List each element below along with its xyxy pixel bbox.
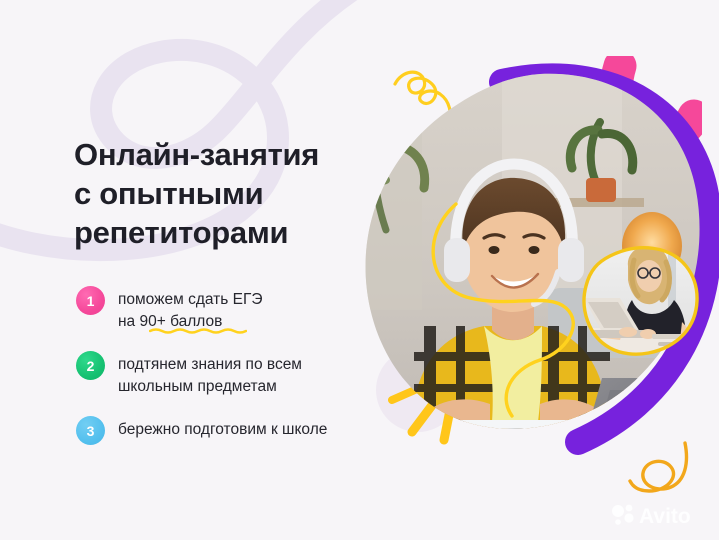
- benefit-number-badge-3: 3: [76, 416, 105, 445]
- avito-watermark: Avito: [610, 502, 706, 528]
- benefit-text-1: поможем сдать ЕГЭ на 90+ баллов: [118, 286, 263, 333]
- benefit-text-3: бережно подготовим к школе: [118, 416, 327, 441]
- benefit-number-badge-2: 2: [76, 351, 105, 380]
- yellow-loop-decoration: [627, 437, 703, 501]
- benefit-number-badge-1: 1: [76, 286, 105, 315]
- avito-logo-icon: Avito: [610, 502, 706, 528]
- student-photo-composition: [352, 60, 719, 480]
- promo-banner: Онлайн-занятия с опытными репетиторами 1…: [0, 0, 719, 540]
- benefit-text-2: подтянем знания по всем школьным предмет…: [118, 351, 302, 398]
- avito-wordmark: Avito: [639, 505, 691, 528]
- wavy-underline-icon: [149, 327, 247, 334]
